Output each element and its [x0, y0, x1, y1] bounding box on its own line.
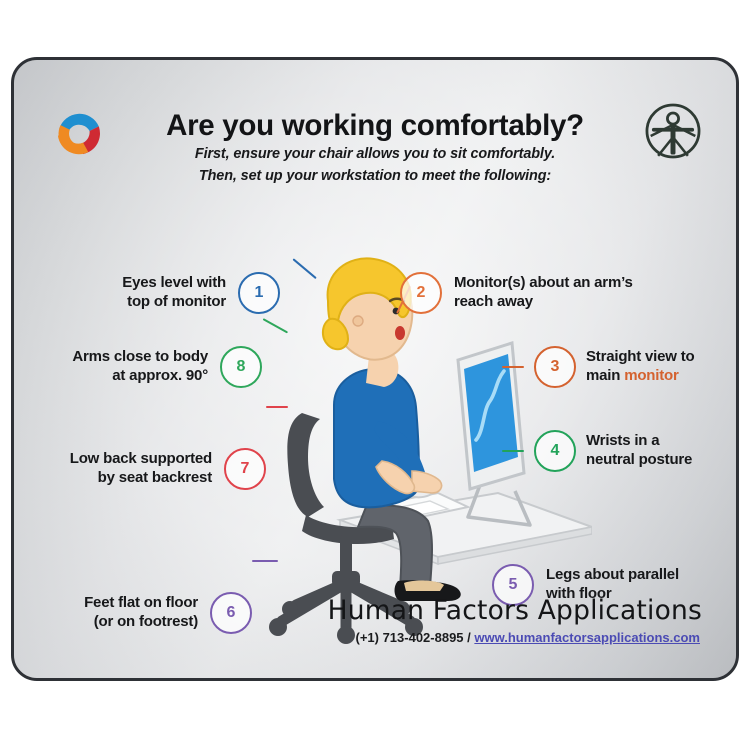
- callout-2[interactable]: 2 Monitor(s) about an arm’s reach away: [400, 272, 680, 314]
- callout-7-line1-rest: supported: [137, 450, 213, 467]
- callout-3-text: Straight view to main monitor: [586, 348, 694, 386]
- callout-2-line2: reach away: [454, 293, 533, 310]
- callout-1[interactable]: Eyes level with top of monitor 1: [92, 272, 280, 314]
- callout-2-text: Monitor(s) about an arm’s reach away: [454, 274, 633, 312]
- callout-4[interactable]: 4 Wrists in a neutral posture: [502, 430, 732, 472]
- callout-6-keyword: Feet: [84, 594, 114, 611]
- page-title: Are you working comfortably?: [14, 109, 736, 143]
- footer-website-link[interactable]: www.humanfactorsapplications.com: [474, 630, 700, 645]
- poster-card: Eyes level with top of monitor 1 Arms cl…: [11, 57, 739, 681]
- callout-7-text: Low back supported by seat backrest: [70, 450, 212, 488]
- footer-contact: (+1) 713-402-8895 / www.humanfactorsappl…: [355, 630, 700, 645]
- callout-7[interactable]: Low back supported by seat backrest 7: [36, 448, 266, 490]
- callout-number-6[interactable]: 6: [210, 592, 252, 634]
- subtitle-line-1: First, ensure your chair allows you to s…: [14, 146, 736, 162]
- callout-number-7[interactable]: 7: [224, 448, 266, 490]
- callout-8-keyword: Arms: [72, 348, 110, 365]
- callout-number-2-label: 2: [417, 284, 426, 302]
- callout-6[interactable]: Feet flat on floor (or on footrest) 6: [48, 592, 252, 634]
- callout-2-line1-rest: about an arm’s: [525, 274, 632, 291]
- callout-number-6-label: 6: [227, 604, 236, 622]
- callout-3-line2-plain: main: [586, 367, 624, 384]
- callout-4-text: Wrists in a neutral posture: [586, 432, 692, 470]
- callout-number-3[interactable]: 3: [534, 346, 576, 388]
- subtitle-line-2: Then, set up your workstation to meet th…: [14, 168, 736, 184]
- callout-number-2[interactable]: 2: [400, 272, 442, 314]
- callout-6-line1-rest: flat on floor: [114, 594, 198, 611]
- callout-number-4[interactable]: 4: [534, 430, 576, 472]
- callout-number-1[interactable]: 1: [238, 272, 280, 314]
- callout-4-line1-rest: in a: [630, 432, 659, 449]
- callout-4-line2: neutral posture: [586, 451, 692, 468]
- callout-8-text: Arms close to body at approx. 90°: [72, 348, 208, 386]
- callout-number-7-label: 7: [241, 460, 250, 478]
- callout-5-keyword: Legs: [546, 566, 580, 583]
- callout-1-text: Eyes level with top of monitor: [122, 274, 226, 312]
- callout-6-text: Feet flat on floor (or on footrest): [84, 594, 198, 632]
- callout-5-line1-rest: about parallel: [580, 566, 679, 583]
- callout-number-1-label: 1: [255, 284, 264, 302]
- callout-4-keyword: Wrists: [586, 432, 630, 449]
- callout-2-keyword: Monitor(s): [454, 274, 525, 291]
- callout-8-line2: at approx. 90°: [112, 367, 208, 384]
- callout-3[interactable]: 3 Straight view to main monitor: [502, 346, 732, 388]
- callout-3-keyword: monitor: [624, 367, 678, 384]
- callout-1-line2: top of monitor: [127, 293, 226, 310]
- callout-7-line2: by seat backrest: [98, 469, 212, 486]
- callout-8[interactable]: Arms close to body at approx. 90° 8: [42, 346, 262, 388]
- callout-1-keyword: Eyes: [122, 274, 156, 291]
- callout-1-line1-rest: level with: [157, 274, 227, 291]
- callout-number-3-label: 3: [551, 358, 560, 376]
- callout-number-4-label: 4: [551, 442, 560, 460]
- callout-4-dash: [502, 450, 524, 453]
- callout-number-8[interactable]: 8: [220, 346, 262, 388]
- footer-phone: (+1) 713-402-8895 /: [355, 630, 474, 645]
- callout-6-line2: (or on footrest): [94, 613, 198, 630]
- callout-8-line1-rest: close to body: [110, 348, 208, 365]
- callout-number-5-label: 5: [509, 576, 518, 594]
- callout-7-keyword: Low back: [70, 450, 137, 467]
- callout-3-dash: [502, 366, 524, 369]
- footer-brand-name: Human Factors Applications: [328, 595, 702, 626]
- callout-3-line1: Straight view to: [586, 348, 694, 365]
- callout-number-8-label: 8: [237, 358, 246, 376]
